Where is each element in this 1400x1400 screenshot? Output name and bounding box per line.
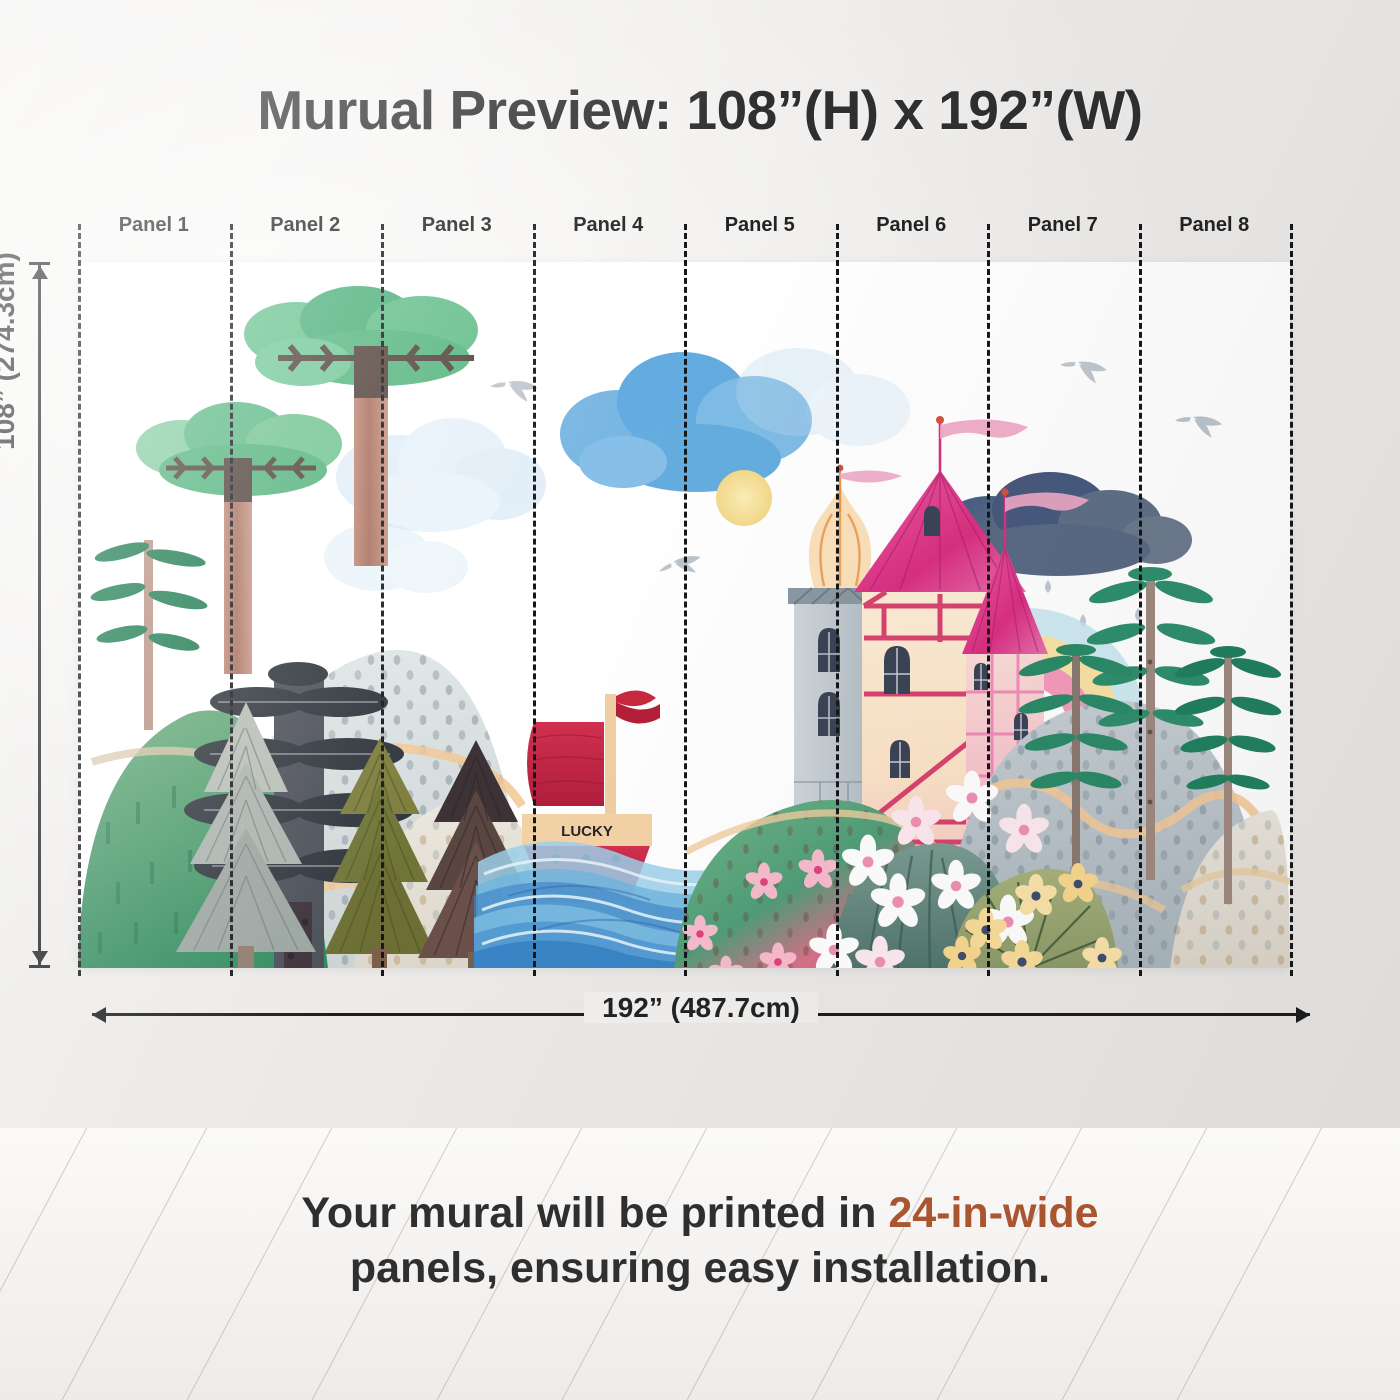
wall-background: Murual Preview: 108”(H) x 192”(W) Panel … (0, 0, 1400, 1128)
caption-line-1: Your mural will be printed in 24-in-wide (0, 1186, 1400, 1241)
width-dimension-text: 192” (487.7cm) (584, 992, 818, 1023)
caption-highlight-24-in-wide: 24-in-wide (888, 1189, 1098, 1237)
panel-label-8: Panel 8 (1139, 214, 1291, 237)
width-dimension-label: 192” (487.7cm) (92, 992, 1310, 1024)
panel-label-2: Panel 2 (230, 214, 382, 237)
panel-divider-4 (684, 224, 687, 976)
panel-label-1: Panel 1 (78, 214, 230, 237)
panel-label-5: Panel 5 (684, 214, 836, 237)
panel-label-7: Panel 7 (987, 214, 1139, 237)
panel-label-3: Panel 3 (381, 214, 533, 237)
panel-divider-3 (533, 224, 536, 976)
caption-line-2: panels, ensuring easy installation. (0, 1241, 1400, 1296)
panel-divider-6 (987, 224, 990, 976)
height-dimension-line (38, 262, 41, 968)
height-cap-top (29, 262, 50, 265)
panel-divider-5 (836, 224, 839, 976)
panel-label-4: Panel 4 (533, 214, 685, 237)
panel-divider-left-edge (78, 224, 81, 976)
panel-divider-1 (230, 224, 233, 976)
caption-line1-before: Your mural will be printed in (301, 1189, 888, 1237)
page-title: Murual Preview: 108”(H) x 192”(W) (0, 78, 1400, 142)
height-cap-bottom (29, 965, 50, 968)
height-arrow-up (32, 266, 48, 279)
ship-name-text: LUCKY (561, 823, 613, 840)
height-dimension-label: 108” (274.3cm) (0, 91, 21, 611)
footer-caption: Your mural will be printed in 24-in-wide… (0, 1186, 1400, 1296)
panel-divider-right-edge (1290, 224, 1293, 976)
height-arrow-down (32, 951, 48, 964)
sun (716, 470, 772, 526)
panel-divider-7 (1139, 224, 1142, 976)
panel-label-6: Panel 6 (836, 214, 988, 237)
width-dimension-line: 192” (487.7cm) (92, 1013, 1310, 1016)
panel-divider-2 (381, 224, 384, 976)
